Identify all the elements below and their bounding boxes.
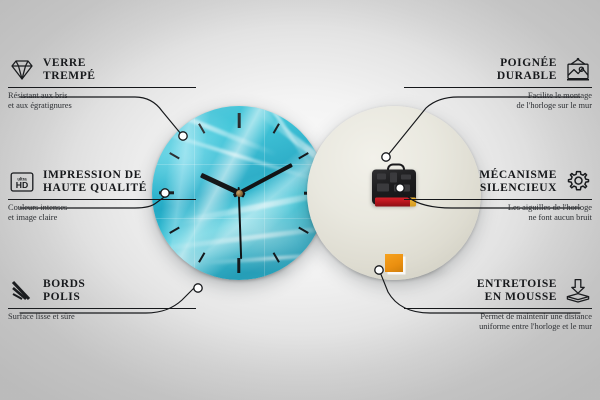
svg-text:HD: HD [16,180,28,190]
foam-spacer-icon [564,277,592,305]
callout-entretoise-en-mousse: ENTRETOISE EN MOUSSE Permet de maintenir… [404,277,592,333]
callout-impression-haute-qualite: ultra HD IMPRESSION DE HAUTE QUALITÉ Cou… [8,168,196,224]
mechanism-detail [377,184,389,192]
callout-header: ENTRETOISE EN MOUSSE [404,277,592,305]
second-hand [238,187,242,259]
callout-rule [8,199,196,200]
clock-center-cap [236,190,243,197]
callout-rule [404,199,592,200]
callout-mecanisme-silencieux: MÉCANISME SILENCIEUX Les aiguilles de l'… [404,168,592,224]
callout-header: POIGNÉE DURABLE [404,56,592,84]
callout-description: Permet de maintenir une distance uniform… [404,312,592,333]
callout-description: Couleurs intenses et image claire [8,203,196,224]
infographic-canvas: VERRE TREMPÉ Résistant aux bris et aux é… [0,0,600,400]
gear-icon [564,168,592,196]
callout-description: Résistant aux bris et aux égratignures [8,91,196,112]
callout-title: ENTRETOISE EN MOUSSE [477,278,557,303]
callout-description: Surface lisse et sûre [8,312,196,322]
foam-spacer [385,254,403,272]
callout-verre-trempe: VERRE TREMPÉ Résistant aux bris et aux é… [8,56,196,112]
callout-rule [8,87,196,88]
callout-header: BORDS POLIS [8,277,196,305]
ultra-hd-icon: ultra HD [8,168,36,196]
polished-edges-icon [8,277,36,305]
callout-description: Facilite le montage de l'horloge sur le … [404,91,592,112]
hanging-frame-icon [564,56,592,84]
callout-rule [404,87,592,88]
callout-rule [404,308,592,309]
callout-header: VERRE TREMPÉ [8,56,196,84]
callout-bords-polis: BORDS POLIS Surface lisse et sûre [8,277,196,322]
callout-description: Les aiguilles de l'horloge ne font aucun… [404,203,592,224]
callout-rule [8,308,196,309]
callout-header: MÉCANISME SILENCIEUX [404,168,592,196]
mechanism-shaft [392,175,397,181]
callout-title: BORDS POLIS [43,278,85,303]
callout-title: IMPRESSION DE HAUTE QUALITÉ [43,169,147,194]
callout-title: POIGNÉE DURABLE [497,57,557,82]
callout-poignee-durable: POIGNÉE DURABLE Facilite le montage de l… [404,56,592,112]
callout-title: VERRE TREMPÉ [43,57,96,82]
diamond-icon [8,56,36,84]
callout-title: MÉCANISME SILENCIEUX [479,169,557,194]
callout-header: ultra HD IMPRESSION DE HAUTE QUALITÉ [8,168,196,196]
mechanism-detail [377,174,386,180]
